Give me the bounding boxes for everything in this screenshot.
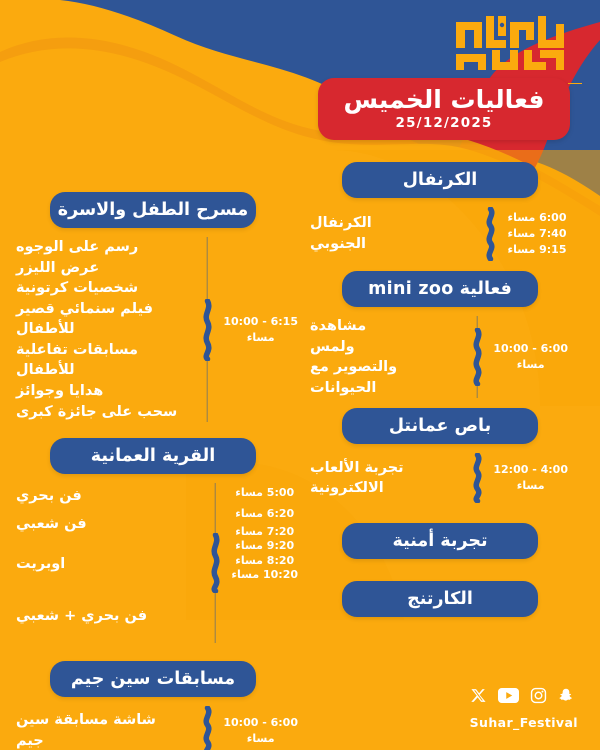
time-entry: 6:00 مساء [506,210,568,226]
section-mini-zoo: فعالية mini zoo 6:00 - 10:00 مساء مشاهدة… [310,271,582,404]
item-entry: هدايا وجوائز [16,381,191,402]
section-omani-village: القرية العمانية 5:00 مساء 6:20 مساء 7:20… [10,438,298,648]
section-title-mini-zoo: فعالية mini zoo [342,271,538,307]
squiggle-divider [482,207,498,261]
instagram-icon[interactable] [530,687,547,708]
item-entry: شاشة مسابقة سين [16,710,191,731]
section-body-omantel-bus: 4:00 - 12:00 مساء تجربة الألعاب الالكترو… [310,444,582,509]
items-child-family-theatre: رسم على الوجوه عرض الليزر شخصيات كرتونية… [16,237,191,422]
left-column: الكرنفال 6:00 مساء 7:40 مساء 9:15 مساء ا… [310,162,582,621]
squiggle-divider [199,706,215,750]
section-body-carnival: 6:00 مساء 7:40 مساء 9:15 مساء الكرنفال ا… [310,198,582,267]
section-body-mini-zoo: 6:00 - 10:00 مساء مشاهدة ولمس والتصوير م… [310,307,582,404]
time-entry: 5:00 مساء [231,483,298,504]
time-entry: مساء [223,731,298,747]
section-body-omani-village: 5:00 مساء 6:20 مساء 7:20 مساء 9:20 مساء … [10,474,298,648]
section-title-child-family-theatre: مسرح الطفل والاسرة [50,192,256,228]
youtube-icon[interactable] [498,687,519,708]
time-entry: مساء [493,478,568,494]
time-entry: 4:00 - 12:00 [493,462,568,478]
section-title-omantel-bus: باص عمانتل [342,408,538,444]
time-entry: 6:15 - 10:00 [223,314,298,330]
item-entry: فن بحري [16,483,199,511]
section-omniyah-experience: تجربة أمنية [310,523,582,559]
day-date: 25/12/2025 [396,115,493,131]
item-entry: فن شعبي [16,511,199,539]
section-karting: الكارتنج [310,581,582,617]
section-title-omniyah-experience: تجربة أمنية [342,523,538,559]
social-links [470,687,578,708]
times-mini-zoo: 6:00 - 10:00 مساء [493,341,568,373]
section-child-family-theatre: مسرح الطفل والاسرة 6:15 - 10:00 مساء رسم… [10,192,298,428]
item-entry: مسابقات تفاعلية [16,340,191,361]
footer: Suhar_Festival [470,687,578,730]
rule-left [568,83,582,85]
item-entry: ولمس [310,337,461,358]
time-entry: 9:20 مساء [231,539,298,553]
squiggle-divider [469,316,485,398]
time-entry: 7:20 مساء [231,525,298,539]
item-entry: الالكترونية [310,478,461,499]
squiggle-icon [201,299,214,361]
times-child-family-theatre: 6:15 - 10:00 مساء [223,314,298,346]
item-entry: والتصوير مع [310,357,461,378]
squiggle-icon [471,328,484,386]
item-entry: فيلم سنمائي قصير [16,299,191,320]
items-mini-zoo: مشاهدة ولمس والتصوير مع الحيوانات [310,316,461,398]
section-title-karting: الكارتنج [342,581,538,617]
items-omani-village: فن بحري فن شعبي اوبريت فن بحري + شعبي [16,483,199,642]
logo-wordmark-icon [452,14,572,74]
section-omantel-bus: باص عمانتل 4:00 - 12:00 مساء تجربة الألع… [310,408,582,509]
item-entry: مشاهدة [310,316,461,337]
section-quiz-competitions: مسابقات سين جيم 6:00 - 10:00 مساء شاشة م… [10,661,298,750]
squiggle-divider [207,483,223,642]
item-entry: فن بحري + شعبي [16,590,199,642]
squiggle-divider [469,453,485,503]
item-entry: سحب على جائزة كبرى [16,402,191,423]
time-entry: 10:20 مساء [231,568,298,582]
item-entry: الكرنفال [310,213,474,234]
snapchat-icon[interactable] [558,687,574,708]
item-entry: رسم على الوجوه [16,237,191,258]
time-entry: مساء [223,330,298,346]
day-title: فعاليات الخميس [344,87,545,113]
items-omantel-bus: تجربة الألعاب الالكترونية [310,458,461,499]
times-omani-village: 5:00 مساء 6:20 مساء 7:20 مساء 9:20 مساء … [231,483,298,642]
time-entry: 9:15 مساء [506,242,568,258]
item-entry: الحيوانات [310,378,461,399]
times-carnival: 6:00 مساء 7:40 مساء 9:15 مساء [506,210,568,258]
items-quiz-competitions: شاشة مسابقة سين جيم [16,710,191,750]
social-handle: Suhar_Festival [470,715,578,730]
squiggle-divider [199,237,215,422]
x-twitter-icon[interactable] [470,687,487,708]
right-column: مسرح الطفل والاسرة 6:15 - 10:00 مساء رسم… [10,192,298,750]
time-entry: 6:20 مساء [231,504,298,525]
section-carnival: الكرنفال 6:00 مساء 7:40 مساء 9:15 مساء ا… [310,162,582,267]
squiggle-icon [209,533,222,593]
squiggle-icon [201,706,214,750]
items-carnival: الكرنفال الجنوبي [310,213,474,254]
time-entry: مساء [493,357,568,373]
item-entry: للأطفال [16,360,191,381]
section-title-omani-village: القرية العمانية [50,438,256,474]
times-quiz-competitions: 6:00 - 10:00 مساء [223,715,298,747]
item-entry: عرض الليزر [16,258,191,279]
squiggle-icon [471,453,484,503]
squiggle-icon [484,207,497,261]
item-entry: للأطفال [16,319,191,340]
item-entry: اوبريت [16,538,199,590]
section-body-quiz-competitions: 6:00 - 10:00 مساء شاشة مسابقة سين جيم [10,697,298,750]
day-banner: فعاليات الخميس 25/12/2025 [318,78,570,140]
item-entry: شخصيات كرتونية [16,278,191,299]
festival-schedule-poster: SUHAR FESTIVAL #وجهة_تسعدنا فعاليات الخم… [0,0,600,750]
time-entry: 6:00 - 10:00 [493,341,568,357]
time-entry: 6:00 - 10:00 [223,715,298,731]
time-entry: 8:20 مساء [231,554,298,568]
item-entry: الجنوبي [310,234,474,255]
item-entry: جيم [16,731,191,750]
section-title-quiz-competitions: مسابقات سين جيم [50,661,256,697]
item-entry: تجربة الألعاب [310,458,461,479]
section-title-carnival: الكرنفال [342,162,538,198]
time-entry: 7:40 مساء [506,226,568,242]
section-body-child-family-theatre: 6:15 - 10:00 مساء رسم على الوجوه عرض الل… [10,228,298,428]
times-omantel-bus: 4:00 - 12:00 مساء [493,462,568,494]
